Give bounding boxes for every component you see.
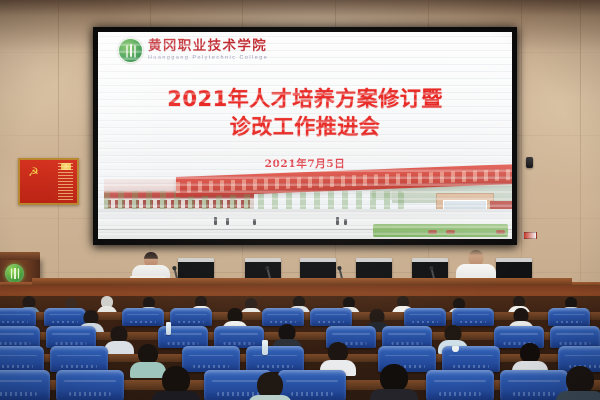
exit-sign xyxy=(523,232,537,239)
hammer-and-sickle-icon: ☭ xyxy=(27,166,40,179)
head-table-surface xyxy=(32,278,572,285)
seat-row xyxy=(0,370,600,400)
slide-title: 2021年人才培养方案修订暨 诊改工作推进会 xyxy=(98,86,512,141)
college-name-english: Huanggang Polytechnic College xyxy=(148,56,268,61)
communist-party-flag: ☭ xyxy=(18,158,79,205)
wall-mounted-speaker-icon xyxy=(526,157,533,168)
campus-panorama-graphic xyxy=(98,161,512,239)
led-screen-bezel: 黄冈职业技术学院 Huanggang Polytechnic College 2… xyxy=(93,27,517,245)
water-bottle xyxy=(166,322,171,335)
slide-title-line1: 2021年人才培养方案修订暨 xyxy=(167,87,442,111)
conference-hall-photo: ☭ 黄冈职业技术学院 Huanggang Polytechnic College… xyxy=(0,0,600,400)
college-seal-icon xyxy=(118,38,143,63)
paper-cup xyxy=(452,346,459,352)
flag-banner-text xyxy=(58,163,73,200)
water-bottle xyxy=(262,340,268,355)
audience-area xyxy=(0,296,600,400)
flag-field: ☭ xyxy=(20,160,77,203)
audience-member-foreground xyxy=(370,364,418,400)
audience-member-foreground xyxy=(248,372,292,400)
college-logo: 黄冈职业技术学院 Huanggang Polytechnic College xyxy=(118,38,268,63)
audience-member-foreground xyxy=(152,366,200,400)
slide-title-line2: 诊改工作推进会 xyxy=(98,114,512,142)
presentation-slide: 黄冈职业技术学院 Huanggang Polytechnic College 2… xyxy=(98,32,512,239)
college-name-chinese: 黄冈职业技术学院 xyxy=(148,40,268,54)
audience-member-foreground xyxy=(556,366,600,400)
slide-date: 2021年7月5日 xyxy=(98,156,512,171)
lectern-seal-icon xyxy=(5,264,24,283)
